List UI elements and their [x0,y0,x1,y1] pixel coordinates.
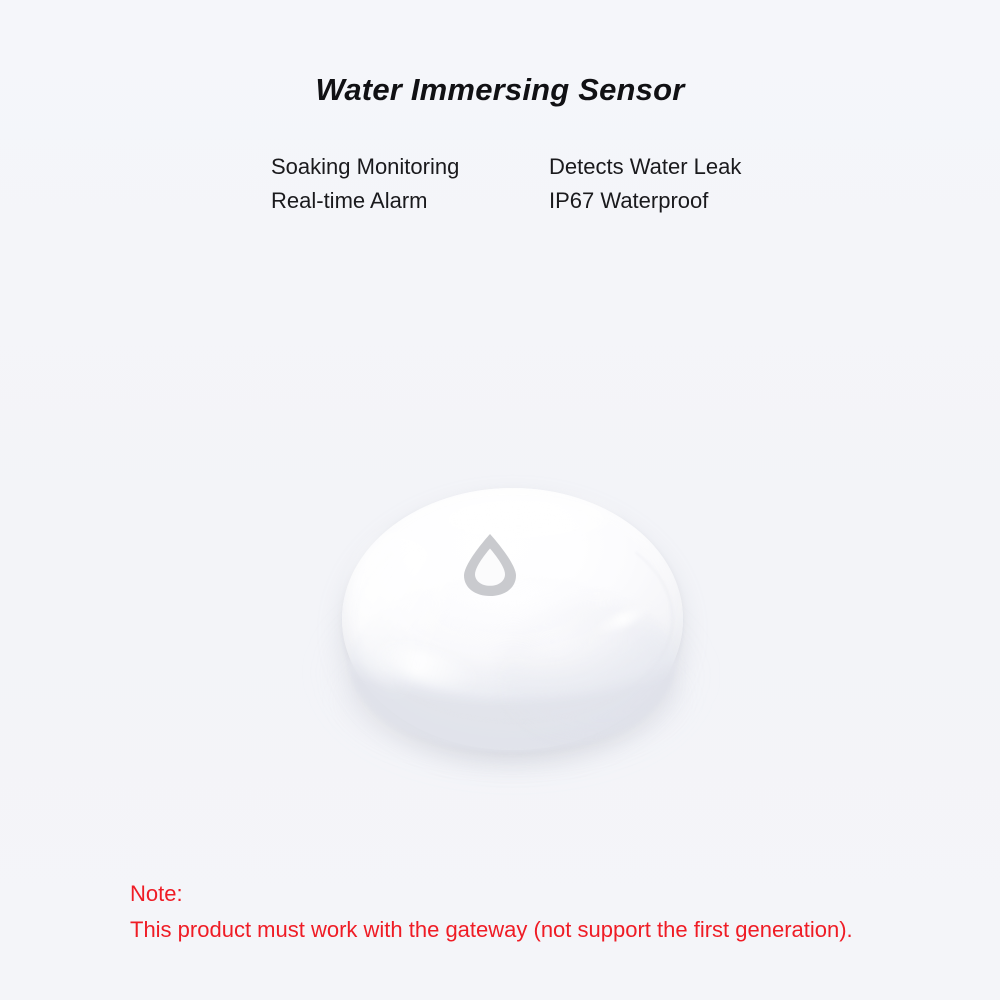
note-block: Note: This product must work with the ga… [130,876,930,948]
page-title: Water Immersing Sensor [0,70,1000,110]
feature-list: Soaking Monitoring Real-time Alarm Detec… [271,150,791,218]
note-label: Note: [130,876,930,912]
feature-column-right: Detects Water Leak IP67 Waterproof [549,150,791,218]
header: Water Immersing Sensor [0,70,1000,110]
feature-column-left: Soaking Monitoring Real-time Alarm [271,150,549,218]
note-text: This product must work with the gateway … [130,912,930,948]
product-image [320,455,700,785]
feature-item: Real-time Alarm [271,184,549,218]
feature-item: Detects Water Leak [549,150,791,184]
feature-item: Soaking Monitoring [271,150,549,184]
device-shading [500,605,675,735]
water-drop-icon [459,532,521,598]
product-banner: Water Immersing Sensor Soaking Monitorin… [0,0,1000,1000]
feature-item: IP67 Waterproof [549,184,791,218]
